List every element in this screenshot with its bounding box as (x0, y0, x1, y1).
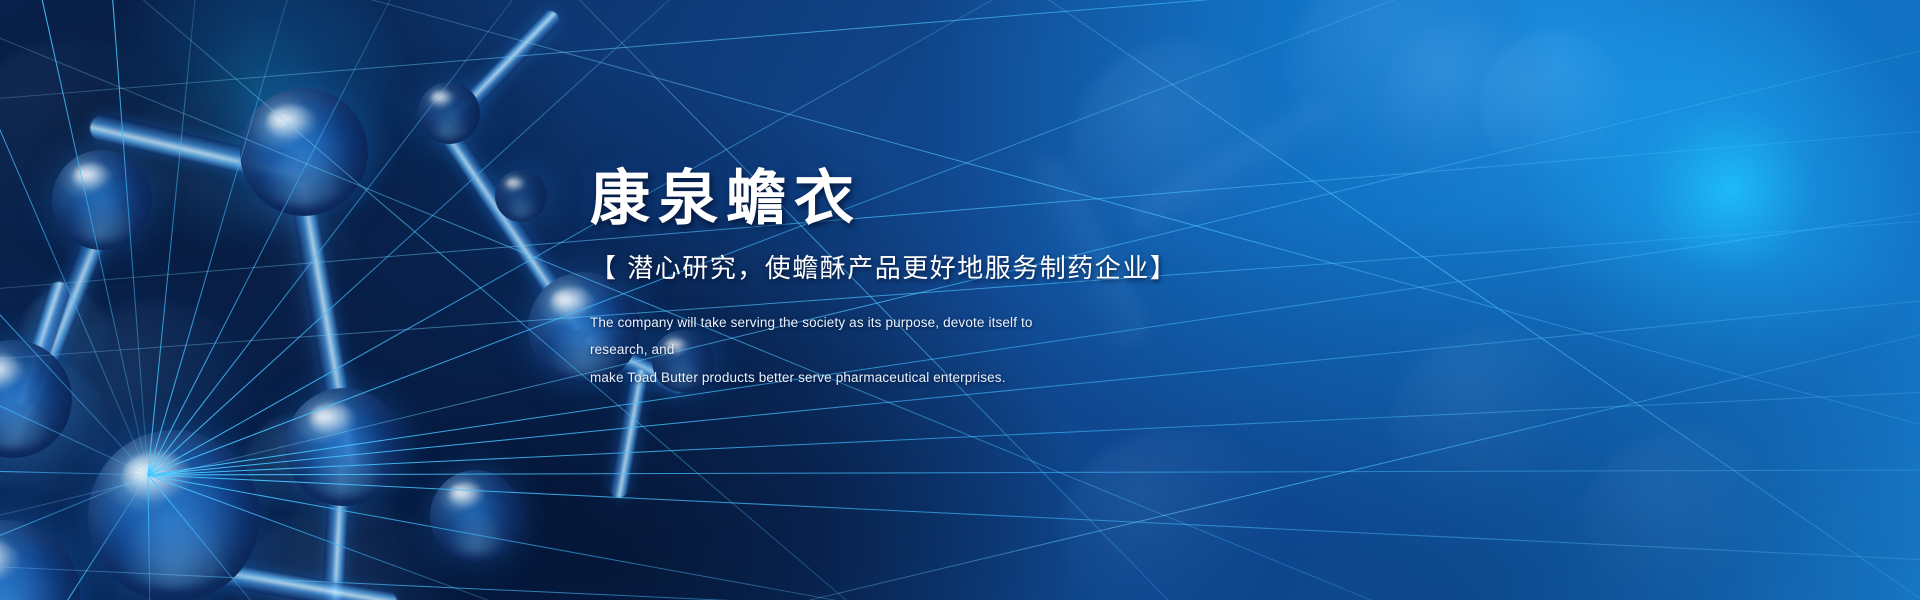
page-title: 康泉蟾衣 (590, 168, 1350, 231)
page-subtitle: 【 潜心研究，使蟾酥产品更好地服务制药企业】 (590, 253, 1350, 287)
hero-banner: 康泉蟾衣 【 潜心研究，使蟾酥产品更好地服务制药企业】 The company … (0, 0, 1920, 600)
description-line-1: The company will take serving the societ… (590, 309, 1060, 364)
page-description: The company will take serving the societ… (590, 309, 1060, 392)
description-line-2: make Toad Butter products better serve p… (590, 364, 1060, 392)
hero-copy: 康泉蟾衣 【 潜心研究，使蟾酥产品更好地服务制药企业】 The company … (590, 168, 1350, 392)
